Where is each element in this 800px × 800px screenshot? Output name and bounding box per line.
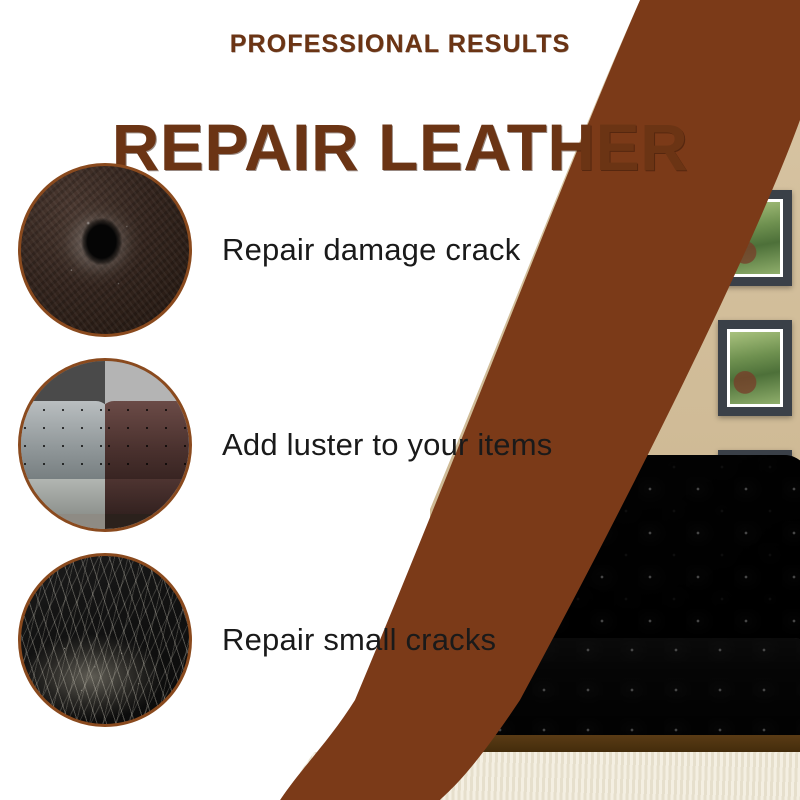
before-half: [21, 361, 105, 529]
mini-sofa-seat: [105, 479, 189, 516]
mini-sofa-backrest: [105, 401, 189, 488]
before-after-sofa-photo: [18, 358, 192, 532]
damaged-leather-hole-photo: [18, 163, 192, 337]
after-half: [105, 361, 189, 529]
feature-row: Add luster to your items: [18, 355, 658, 535]
mini-sofa-backrest: [21, 401, 105, 488]
leather-repair-poster: PROFESSIONAL RESULTS REPAIR LEATHER Repa…: [0, 0, 800, 800]
tufting-pattern: [21, 401, 105, 488]
mini-floor: [105, 514, 189, 529]
mini-floor: [21, 514, 105, 529]
mini-sofa-seat: [21, 479, 105, 516]
tufting-pattern: [105, 401, 189, 488]
feature-label: Add luster to your items: [222, 427, 552, 463]
feature-row: Repair damage crack: [18, 160, 658, 340]
cracked-black-leather-photo: [18, 553, 192, 727]
feature-row: Repair small cracks: [18, 550, 658, 730]
eyebrow-text: PROFESSIONAL RESULTS: [0, 30, 800, 59]
poster-content: PROFESSIONAL RESULTS REPAIR LEATHER Repa…: [0, 0, 800, 800]
feature-label: Repair small cracks: [222, 622, 496, 658]
feature-label: Repair damage crack: [222, 232, 520, 268]
